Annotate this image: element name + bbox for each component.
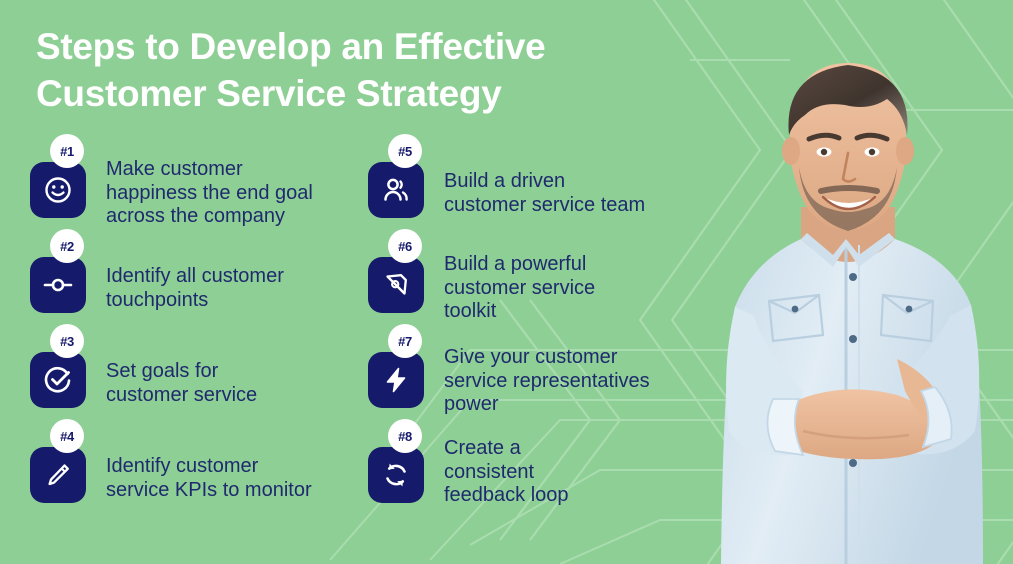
step-item-1[interactable]: #1 Make customer happiness the end goal …	[30, 148, 360, 243]
steps-column-left: #1 Make customer happiness the end goal …	[30, 148, 360, 528]
step-2-text: Identify all customer touchpoints	[94, 243, 284, 312]
step-3-icon-tile	[30, 352, 86, 408]
steps-column-right: #5 Build a driven customer service team …	[368, 148, 698, 528]
step-1-text: Make customer happiness the end goal acr…	[94, 148, 313, 229]
step-4-badge-group: #4	[30, 433, 94, 503]
step-8-badge-group: #8	[368, 433, 432, 503]
step-5-number-badge: #5	[388, 134, 422, 168]
step-5-badge-group: #5	[368, 148, 432, 218]
step-1-badge-group: #1	[30, 148, 94, 218]
step-8-icon-tile	[368, 447, 424, 503]
page-title: Steps to Develop an Effective Customer S…	[36, 24, 636, 117]
step-3-badge-group: #3	[30, 338, 94, 408]
step-1-number-badge: #1	[50, 134, 84, 168]
step-item-3[interactable]: #3 Set goals for customer service	[30, 338, 360, 433]
step-item-4[interactable]: #4 Identify customer service KPIs to mon…	[30, 433, 360, 528]
step-8-text: Create a consistent feedback loop	[432, 433, 569, 508]
touchpoint-node-icon	[42, 270, 74, 300]
pencil-icon	[43, 460, 73, 490]
step-item-5[interactable]: #5 Build a driven customer service team	[368, 148, 698, 243]
people-team-icon	[380, 175, 412, 205]
step-2-badge-group: #2	[30, 243, 94, 313]
step-5-text: Build a driven customer service team	[432, 148, 645, 217]
step-1-icon-tile	[30, 162, 86, 218]
step-8-number-badge: #8	[388, 419, 422, 453]
step-6-number-badge: #6	[388, 229, 422, 263]
step-6-icon-tile	[368, 257, 424, 313]
step-4-icon-tile	[30, 447, 86, 503]
title-line-1: Steps to Develop an Effective	[36, 24, 636, 71]
step-7-badge-group: #7	[368, 338, 432, 408]
check-circle-icon	[43, 365, 73, 395]
pen-tool-icon	[381, 270, 411, 300]
step-5-icon-tile	[368, 162, 424, 218]
infographic-canvas: Steps to Develop an Effective Customer S…	[0, 0, 1013, 564]
step-6-badge-group: #6	[368, 243, 432, 313]
step-3-text: Set goals for customer service	[94, 338, 257, 407]
step-item-6[interactable]: #6 Build a powerful customer service too…	[368, 243, 698, 338]
title-line-2: Customer Service Strategy	[36, 71, 636, 118]
refresh-loop-icon	[381, 460, 411, 490]
step-item-7[interactable]: #7 Give your customer service representa…	[368, 338, 698, 433]
step-7-icon-tile	[368, 352, 424, 408]
step-2-number-badge: #2	[50, 229, 84, 263]
step-6-text: Build a powerful customer service toolki…	[432, 243, 595, 324]
lightning-bolt-icon	[381, 365, 411, 395]
step-7-number-badge: #7	[388, 324, 422, 358]
step-2-icon-tile	[30, 257, 86, 313]
step-item-8[interactable]: #8 Create a consistent feedback loop	[368, 433, 698, 528]
step-4-text: Identify customer service KPIs to monito…	[94, 433, 312, 502]
step-3-number-badge: #3	[50, 324, 84, 358]
step-7-text: Give your customer service representativ…	[432, 338, 650, 417]
person-photo	[683, 39, 1013, 564]
step-item-2[interactable]: #2 Identify all customer touchpoints	[30, 243, 360, 338]
smiley-face-icon	[43, 175, 73, 205]
step-4-number-badge: #4	[50, 419, 84, 453]
